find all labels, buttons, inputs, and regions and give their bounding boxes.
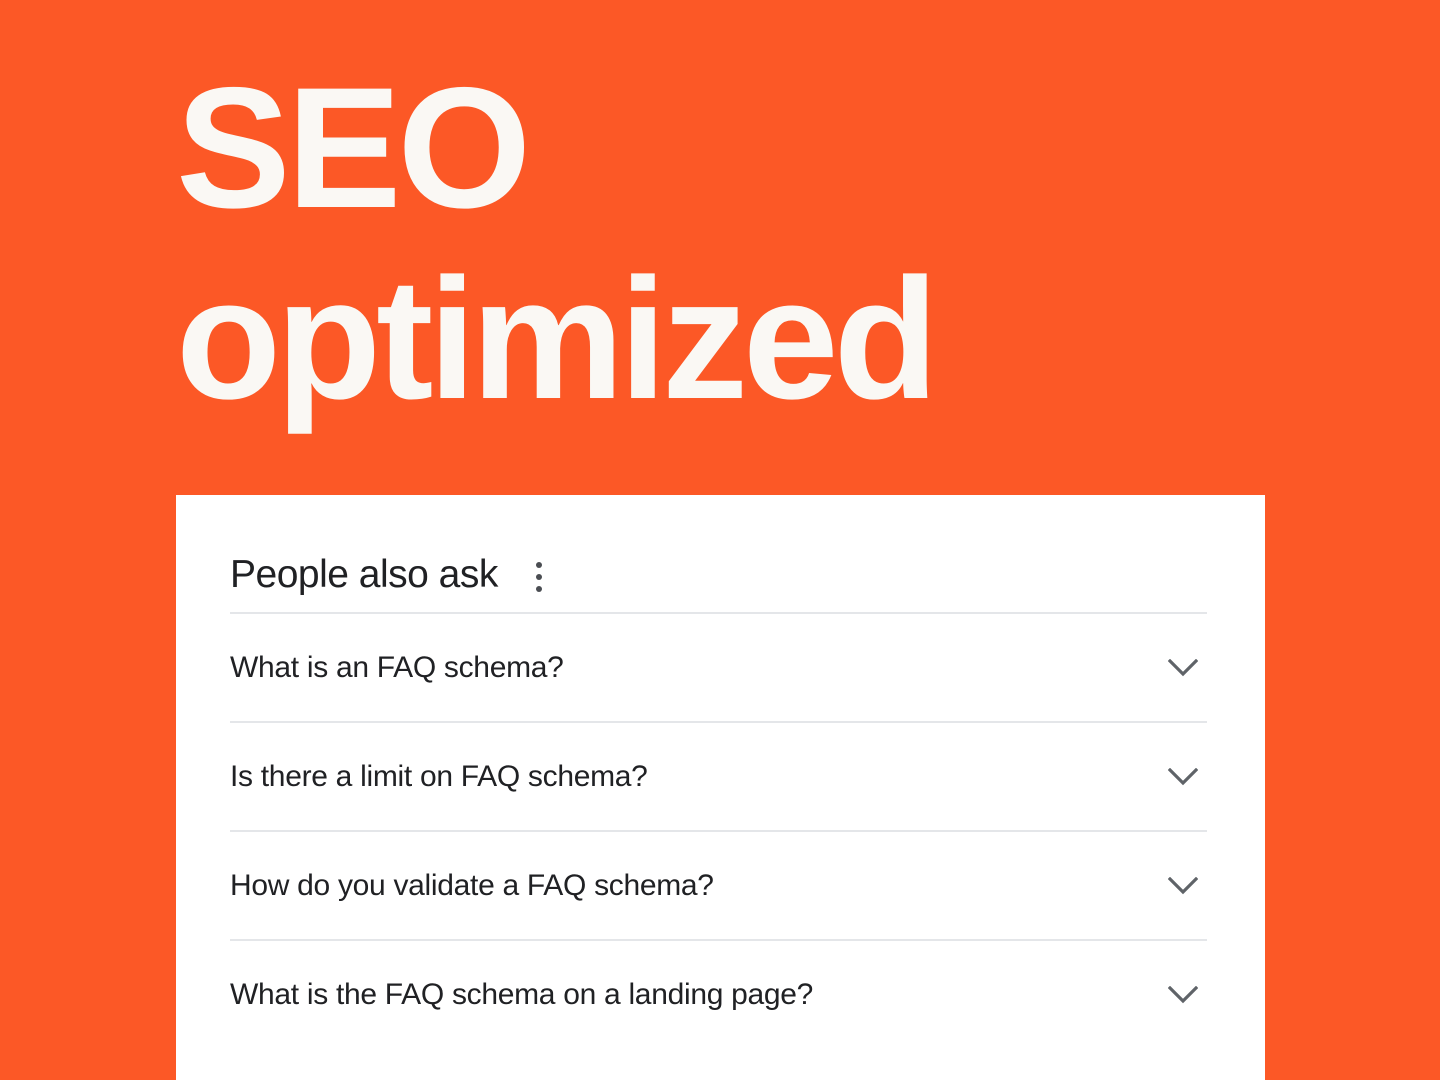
- paa-question-label: Is there a limit on FAQ schema?: [230, 760, 648, 794]
- paa-question-row[interactable]: What is the FAQ schema on a landing page…: [230, 941, 1207, 1048]
- chevron-down-icon[interactable]: [1165, 977, 1201, 1013]
- people-also-ask-card: People also ask What is an FAQ schema? I…: [176, 495, 1265, 1080]
- more-vert-dot: [536, 574, 542, 580]
- more-vert-dot: [536, 562, 542, 568]
- paa-question-label: What is the FAQ schema on a landing page…: [230, 978, 813, 1012]
- people-also-ask-title: People also ask: [230, 555, 498, 594]
- paa-question-row[interactable]: What is an FAQ schema?: [230, 614, 1207, 721]
- hero-headline: SEO optimized: [176, 64, 1176, 423]
- people-also-ask-content: People also ask What is an FAQ schema? I…: [230, 495, 1207, 1048]
- more-vert-icon[interactable]: [526, 559, 552, 595]
- chevron-down-icon[interactable]: [1165, 868, 1201, 904]
- chevron-down-icon[interactable]: [1165, 759, 1201, 795]
- paa-question-row[interactable]: Is there a limit on FAQ schema?: [230, 723, 1207, 830]
- more-vert-dot: [536, 586, 542, 592]
- paa-question-label: How do you validate a FAQ schema?: [230, 869, 714, 903]
- hero-line-1: SEO: [176, 64, 1176, 233]
- paa-question-row[interactable]: How do you validate a FAQ schema?: [230, 832, 1207, 939]
- people-also-ask-header: People also ask: [230, 495, 1207, 612]
- hero-line-2: optimized: [176, 255, 1176, 424]
- paa-question-label: What is an FAQ schema?: [230, 651, 564, 685]
- chevron-down-icon[interactable]: [1165, 650, 1201, 686]
